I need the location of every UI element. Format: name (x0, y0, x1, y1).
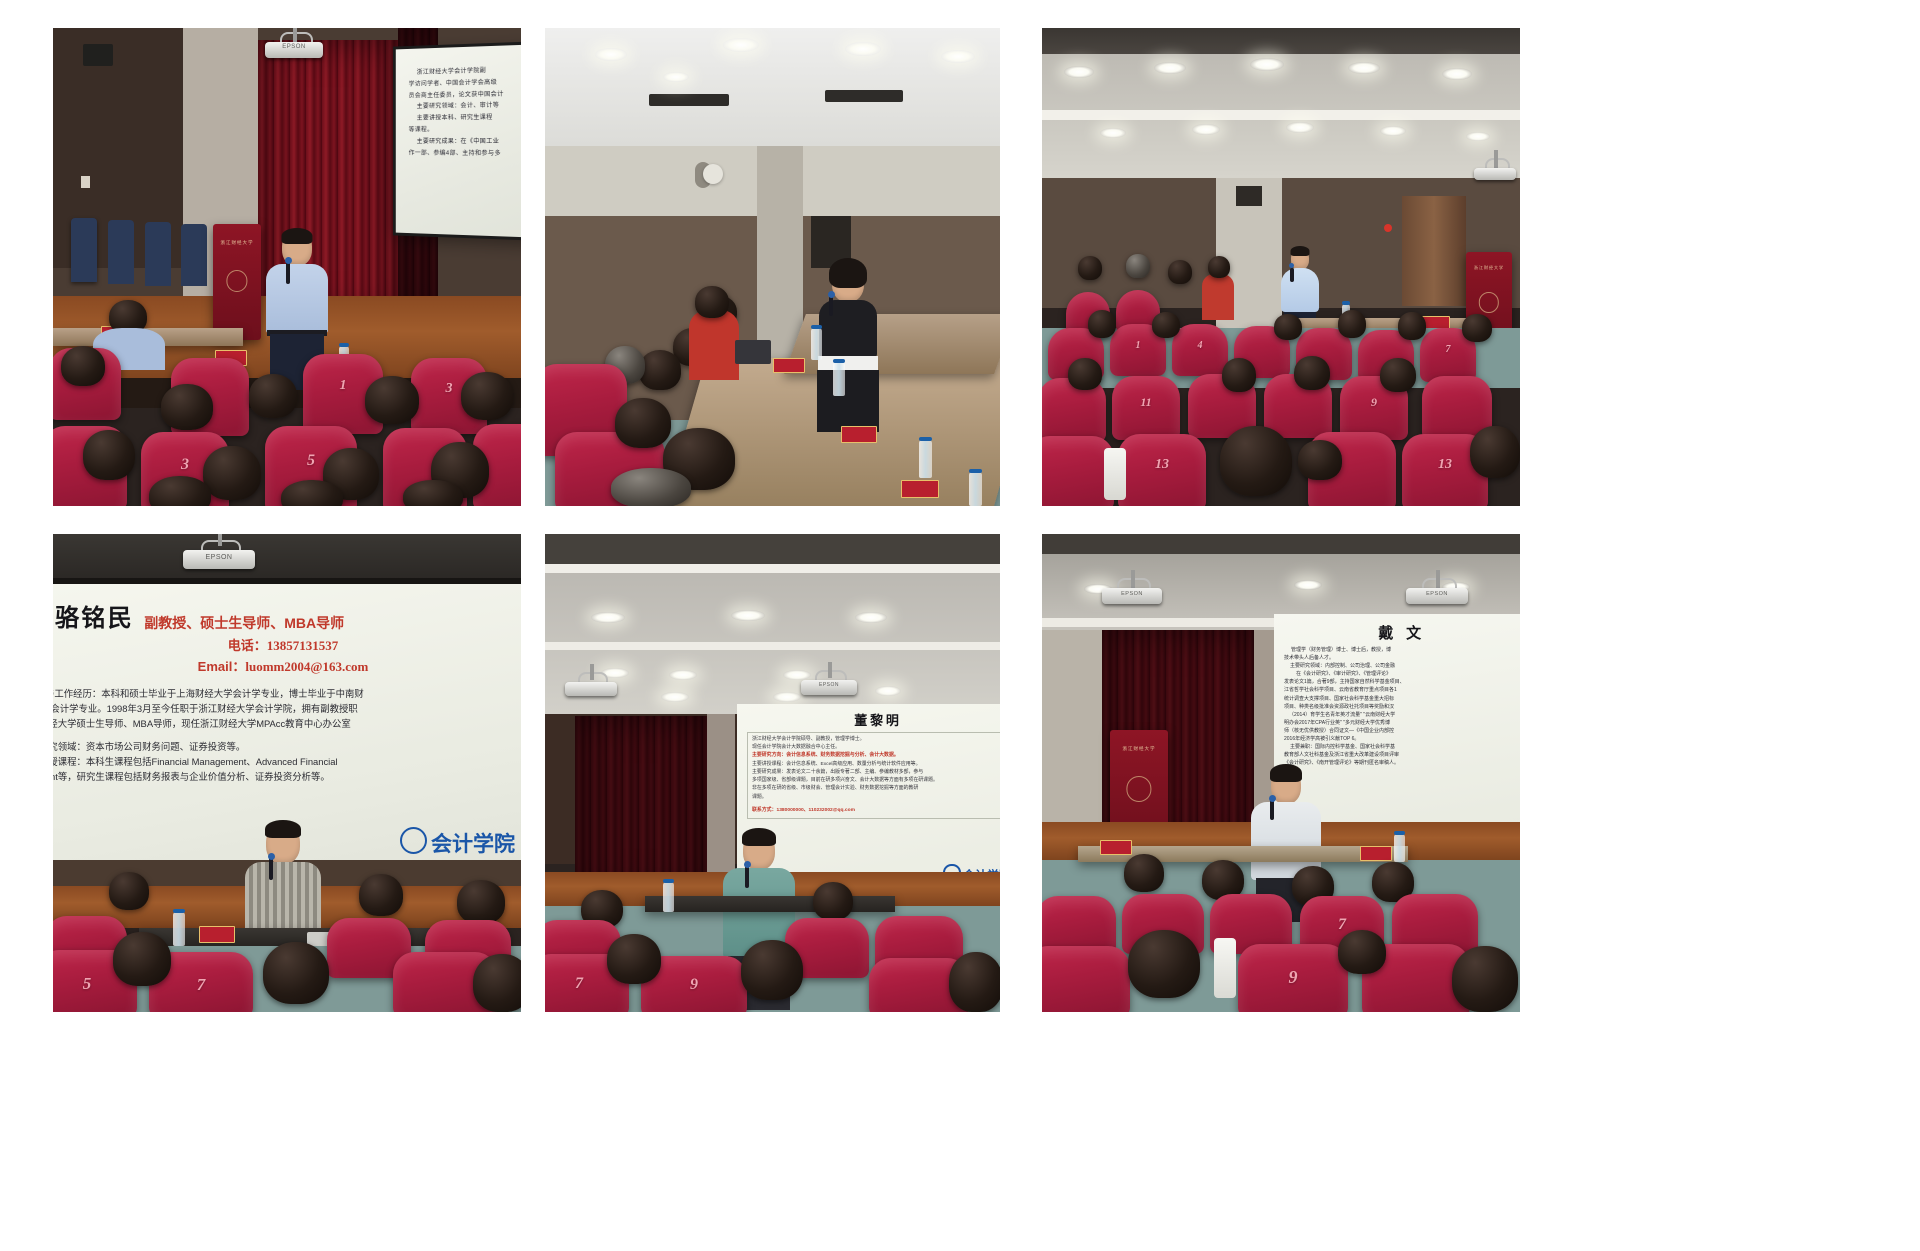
audience-head (1470, 426, 1520, 478)
name-plate (1360, 846, 1392, 861)
projector-mount-pole (1494, 150, 1498, 168)
audience-head (359, 874, 403, 916)
slide-line: 在《会计研究》、《审计研究》、《管理评论》 (1284, 670, 1520, 678)
audience-head (61, 346, 105, 386)
slide-line: 多项国家级、省部级课题，目前在研多项兴奋文、会计大数据等方面有多项在研课题。 (752, 777, 1000, 785)
audience-head (1128, 930, 1200, 998)
slide-line: 主要讲授本科、研究生课程 (409, 111, 521, 124)
audience-head (403, 480, 463, 506)
seat (1042, 946, 1130, 1012)
microphone-head-icon (285, 257, 292, 264)
ceiling-downlight (855, 612, 887, 623)
slide-contact-label: 联系方式： (752, 808, 776, 813)
name-plate (841, 426, 877, 443)
slide-line: 管理学（财务管理）博士、博士后，教授，博 (1284, 646, 1520, 654)
speaker-dress-top (819, 300, 877, 358)
audience-head (1298, 440, 1342, 480)
slide-email-label: Email： (198, 659, 246, 674)
podium: 浙江财经大学 (213, 224, 261, 340)
thermos-bottle (1214, 938, 1236, 998)
audience-head (1338, 930, 1386, 974)
wall-switch (81, 176, 90, 188)
ceiling-upper-dark (1042, 534, 1520, 554)
photo-panel-top-right[interactable]: 浙江财经大学 1 (1042, 28, 1520, 506)
ceiling-beam-strip (545, 564, 1000, 573)
ceiling-downlight (669, 670, 697, 680)
audience-head (109, 872, 149, 910)
slide-line-highlight: 主要研究方向：会计信息系统、财务数据挖掘与分析、会计大数据。 (752, 752, 1000, 760)
microphone (745, 866, 749, 888)
college-seal-icon (400, 827, 427, 854)
audience-head (1168, 260, 1192, 284)
speaker-hair (282, 228, 313, 244)
audience-head (1294, 356, 1330, 390)
ceiling-downlight (875, 686, 901, 696)
seat-number: 9 (1238, 967, 1348, 988)
water-bottle (663, 882, 674, 912)
seat-number: 11 (1112, 395, 1180, 410)
speaker-hair (1291, 246, 1310, 256)
slide-phone: 13857131537 (267, 638, 339, 653)
slide-speaker-name: 骆铭民 (55, 598, 134, 633)
slide-line: ment等，研究生课程包括财务报表与企业价值分析、证券投资分析等。 (53, 769, 515, 784)
slide-line: 研究领域：资本市场公司财务问题、证券投资等。 (53, 739, 515, 754)
audience-head (1398, 312, 1426, 340)
slide-line: 主要研究领域：会计、审计等 (409, 99, 521, 113)
ceiling-downlight (723, 38, 759, 52)
audience-head (1126, 254, 1150, 278)
speaker-hair (265, 820, 301, 838)
seat: 9 (1238, 944, 1348, 1012)
speaker-hair (1270, 764, 1302, 782)
slide-line: 江省哲学社会科学项目、云南省教育厅重点项目各1 (1284, 686, 1520, 694)
ceiling (545, 28, 1000, 146)
stage-chair (145, 222, 171, 286)
hall-door (1402, 196, 1466, 306)
ceiling-beam-strip (545, 642, 1000, 650)
audience-head (1452, 946, 1518, 1012)
name-plate (1100, 840, 1132, 855)
audience-head (639, 350, 681, 390)
thermos-bottle (1104, 448, 1126, 500)
speaker-hair (829, 258, 867, 288)
speaker-hair (742, 828, 776, 846)
slide-line: 2016年经济学高被引义献TOP 6。 (1284, 735, 1520, 743)
audience-head (1338, 310, 1366, 338)
slide-line: 统计调查大支撑项目、国家社会科学基金重大招标 (1284, 695, 1520, 703)
audience-head (281, 480, 343, 506)
slide-line: 与工作经历：本科和硕士毕业于上海财经大学会计学专业，博士毕业于中南财 (53, 686, 515, 701)
bottle-cap (1342, 301, 1350, 305)
audience-head (741, 940, 803, 1000)
ceiling-projector: EPSON (1102, 578, 1162, 608)
photo-panel-top-middle[interactable] (545, 28, 1000, 506)
projector-body (565, 682, 617, 696)
microphone-head-icon (744, 861, 751, 868)
slide-line: 教育部人文社科基金及浙江省重大改革建设项目评审 (1284, 751, 1520, 759)
water-bottle (1394, 834, 1405, 862)
ceiling-beam-strip (1042, 110, 1520, 120)
ceiling-downlight (1100, 128, 1126, 138)
audience-head (83, 430, 135, 480)
ceiling-downlight (661, 692, 689, 702)
conference-room-scene (545, 28, 1000, 506)
ceiling-upper-dark (545, 534, 1000, 566)
stage-curtain (575, 716, 707, 896)
stage-chair (108, 220, 134, 284)
ceiling-downlight (773, 692, 801, 702)
slide-line: 师（核无优供教授）合同证文—《中国企业内部控 (1284, 727, 1520, 735)
microphone-head-icon (1269, 795, 1276, 802)
stage-chair (71, 218, 97, 282)
ceiling-downlight (1286, 122, 1314, 133)
microphone (269, 858, 273, 880)
slide-line: 明办会2017年CPA行业英" "多元财经大学优秀博 (1284, 719, 1520, 727)
water-bottle (173, 912, 185, 946)
podium-venue-label: 浙江财经大学 (1110, 746, 1168, 752)
slide-line: 技术带头人后备人才。 (1284, 654, 1520, 662)
podium-venue-label: 浙江财经大学 (213, 240, 261, 246)
audience-head (457, 880, 505, 924)
photo-panel-bottom-middle[interactable]: EPSON 董黎明 浙江财经大学会计学院硕导、副教授，管理学博士。 现任会计学院… (545, 534, 1000, 1012)
bottle-cap (173, 909, 185, 913)
front-table (645, 896, 895, 912)
slide-line: 主要讲授课程：会计信息系统、Excel高级应用、数量分析与统计软件应用等。 (752, 761, 1000, 769)
ceiling-downlight (595, 48, 627, 61)
photo-panel-bottom-left[interactable]: EPSON 骆铭民 副教授、硕士生导师、MBA导师 电话：13857131537… (53, 534, 521, 1012)
slide-line: 课题。 (752, 794, 1000, 802)
projector-mount-pole (1131, 570, 1135, 588)
seat-number: 1 (1110, 340, 1166, 351)
wall-clock-icon (703, 164, 723, 184)
water-bottle (833, 362, 845, 396)
audience-head (615, 398, 671, 448)
slide-line: 项目、种类名级批准会资源政社托项目等奖励和汉 (1284, 703, 1520, 711)
lecture-slide-scene: EPSON 骆铭民 副教授、硕士生导师、MBA导师 电话：13857131537… (53, 534, 521, 1012)
ceiling-air-vent (825, 90, 903, 102)
audience-head (1124, 854, 1164, 892)
audience-head (149, 476, 211, 506)
ceiling-downlight (845, 42, 881, 56)
microphone-head-icon (1289, 263, 1294, 268)
audience-head (1222, 358, 1256, 392)
water-bottle (811, 328, 822, 360)
slide-speaker-name: 董黎明 (747, 710, 1000, 729)
seat-number: 13 (1118, 457, 1206, 473)
projector-brand-label: EPSON (183, 554, 255, 561)
audience-head (1068, 358, 1102, 390)
seat-number: 7 (1420, 344, 1476, 355)
audience-head (263, 942, 329, 1004)
audience-person-red-top (689, 310, 739, 380)
audience-head (113, 932, 171, 986)
ceiling-downlight (941, 50, 975, 63)
ceiling-projector (1474, 158, 1516, 180)
seat-number: 9 (641, 976, 747, 994)
audience-head (1208, 256, 1230, 278)
projector-mount-pole (218, 534, 222, 546)
seat: 4 (1172, 324, 1228, 376)
ceiling (53, 534, 521, 582)
emergency-light (1384, 224, 1392, 232)
photo-collage: EPSON 浙江财经大学会计学院副 学访问学者、中国会计学会高级 员会商主任委员… (0, 0, 1920, 1251)
projector-brand-label: EPSON (801, 682, 857, 688)
audience-head (695, 286, 729, 318)
audience-head (1078, 256, 1102, 280)
ceiling-speaker (83, 44, 113, 66)
bottle-cap (811, 325, 822, 329)
slide-line: 学会计学专业。1998年3月至今任职于浙江财经大学会计学院，拥有副教授职 (53, 701, 515, 716)
laptop (735, 340, 771, 364)
slide-email: luomm2004@163.com (245, 659, 368, 674)
audience-head (607, 934, 661, 984)
speaker-shirt (266, 264, 328, 334)
projector-brand-label: EPSON (1102, 591, 1162, 597)
ceiling-downlight (1250, 58, 1284, 71)
microphone (1270, 800, 1274, 820)
audience-head (365, 376, 419, 424)
slide-phone-label: 电话： (228, 638, 267, 653)
seat: 11 (1112, 376, 1180, 440)
projector-mount-pole (590, 664, 594, 680)
name-plate (199, 926, 235, 943)
lecture-hall-wide-scene: 浙江财经大学 1 (1042, 28, 1520, 506)
slide-line: 主要兼职：国际内控科学基金、国家社会科学基 (1284, 743, 1520, 751)
ceiling-air-vent (649, 94, 729, 106)
slide-line: 发表论文1篇，合著9部，主持国家自然科学基金项目、 (1284, 678, 1520, 686)
ceiling-downlight (591, 612, 625, 623)
ceiling-projector (565, 672, 617, 698)
bottle-cap (833, 359, 845, 363)
audience-head (1462, 314, 1492, 342)
water-bottle (969, 472, 982, 506)
speaker-shirt (1281, 268, 1319, 312)
projector-body (1474, 168, 1516, 180)
university-crest-icon (226, 270, 247, 291)
audience-head (461, 372, 513, 420)
ceiling-downlight (731, 610, 765, 621)
seat: 13 (1118, 434, 1206, 506)
ceiling-downlight (1466, 132, 1490, 141)
photo-panel-top-left[interactable]: EPSON 浙江财经大学会计学院副 学访问学者、中国会计学会高级 员会商主任委员… (53, 28, 521, 506)
ceiling-downlight (1442, 68, 1472, 80)
stage-chair (181, 224, 207, 286)
wall-column-left (1042, 630, 1102, 836)
lecture-slide-scene: EPSON 董黎明 浙江财经大学会计学院硕导、副教授，管理学博士。 现任会计学院… (545, 534, 1000, 1012)
ceiling-beam (1042, 28, 1520, 54)
bottle-cap (339, 343, 349, 347)
lecture-slide-scene: EPSON EPSON 戴 文 管理学（财务管理）博士、博士后，教授，博 技术带… (1042, 534, 1520, 1012)
wall-panel (1236, 186, 1262, 206)
slide-line: 讲授课程：本科生课程包括Financial Management、Advance… (53, 754, 515, 769)
college-logo-text: 会计学院 (431, 832, 515, 856)
ceiling-downlight (1348, 62, 1380, 74)
audience-head (611, 468, 691, 506)
speaker-dress-skirt (817, 370, 879, 432)
ceiling-downlight (663, 72, 689, 82)
slide-line: 主要研究领域：内部控制、公司治理、公司金融 (1284, 662, 1520, 670)
bottle-cap (1394, 831, 1405, 835)
slide-speaker-titles: 副教授、硕士生导师、MBA导师 (144, 613, 344, 633)
slide-line: 主要研究成果：在《中国工业 (409, 136, 521, 148)
audience-head (1088, 310, 1116, 338)
ceiling-downlight (1380, 126, 1406, 136)
ceiling-downlight (1192, 124, 1220, 135)
slide-line: 财经大学硕士生导师、MBA导师，现任浙江财经大学MPAcc教育中心办公室 (53, 716, 515, 731)
audience-head (1220, 426, 1292, 496)
name-plate (773, 358, 805, 373)
slide-line: 作一部、参编4部、主持和参与多 (409, 147, 521, 160)
podium-venue-label: 浙江财经大学 (1466, 265, 1512, 271)
audience-head (1380, 358, 1416, 392)
projector-mount-pole (828, 662, 832, 678)
slide-line: （2014）育学生名青年英才流量" "云南财经大学 (1284, 711, 1520, 719)
audience-head (203, 446, 261, 500)
ceiling-downlight (1294, 580, 1322, 590)
projector-mount-pole (1436, 570, 1440, 588)
ceiling-projector: EPSON (265, 32, 323, 60)
audience-head (949, 952, 1000, 1012)
slide-line: 非在多项在研的省级、市级财会、管理会计实验、财务数据挖掘等方面的教研 (752, 785, 1000, 793)
slide-line: 主要研究成果：发表论文二十余篇，出版专著二部、主编、参编教材多部，参与 (752, 769, 1000, 777)
audience-person-red-top (1202, 274, 1234, 320)
microphone (286, 262, 290, 284)
ceiling-projector-secondary: EPSON (1406, 578, 1468, 608)
university-crest-icon (1126, 776, 1151, 801)
projector-mount-pole (293, 28, 297, 42)
college-logo: 会计学院 (400, 827, 515, 858)
audience-head (813, 882, 853, 920)
slide-line: 浙江财经大学会计学院硕导、副教授，管理学博士。 (752, 736, 1000, 744)
projection-screen: 浙江财经大学会计学院副 学访问学者、中国会计学会高级 员会商主任委员，论文获中国… (396, 42, 521, 239)
slide-contact: 1380000000、110232002@qq.com (776, 808, 854, 813)
audience-head (1274, 314, 1302, 340)
ceiling-projector-secondary: EPSON (801, 670, 857, 696)
microphone-head-icon (828, 291, 835, 298)
ceiling-downlight (1154, 62, 1186, 74)
bottle-cap (663, 879, 674, 883)
seat-number: 9 (1340, 395, 1408, 410)
slide-line: 现任会计学院会计大数据融合中心主任。 (752, 744, 1000, 752)
name-plate (901, 480, 939, 498)
projector-brand-label: EPSON (1406, 591, 1468, 597)
audience-head (249, 374, 297, 418)
slide-line: 等课程。 (409, 123, 521, 136)
audience-head (1152, 312, 1180, 338)
microphone (829, 296, 833, 316)
seat-number: 4 (1172, 340, 1228, 351)
slide-content: 浙江财经大学会计学院副 学访问学者、中国会计学会高级 员会商主任委员，论文获中国… (396, 42, 521, 239)
lecture-hall-scene: EPSON 浙江财经大学会计学院副 学访问学者、中国会计学会高级 员会商主任委员… (53, 28, 521, 506)
audience-head (473, 954, 521, 1012)
microphone-head-icon (268, 853, 275, 860)
slide-speaker-name: 戴 文 (1284, 622, 1520, 643)
bottle-cap (969, 469, 982, 473)
microphone (1290, 268, 1294, 282)
bottle-cap (919, 437, 932, 441)
ceiling-downlight (1064, 66, 1094, 78)
university-crest-icon (1479, 292, 1499, 312)
photo-panel-bottom-right[interactable]: EPSON EPSON 戴 文 管理学（财务管理）博士、博士后，教授，博 技术带… (1042, 534, 1520, 1012)
water-bottle (919, 440, 932, 478)
projector-brand-label: EPSON (265, 44, 323, 50)
ceiling-projector: EPSON (183, 540, 255, 574)
audience-head (161, 384, 213, 430)
